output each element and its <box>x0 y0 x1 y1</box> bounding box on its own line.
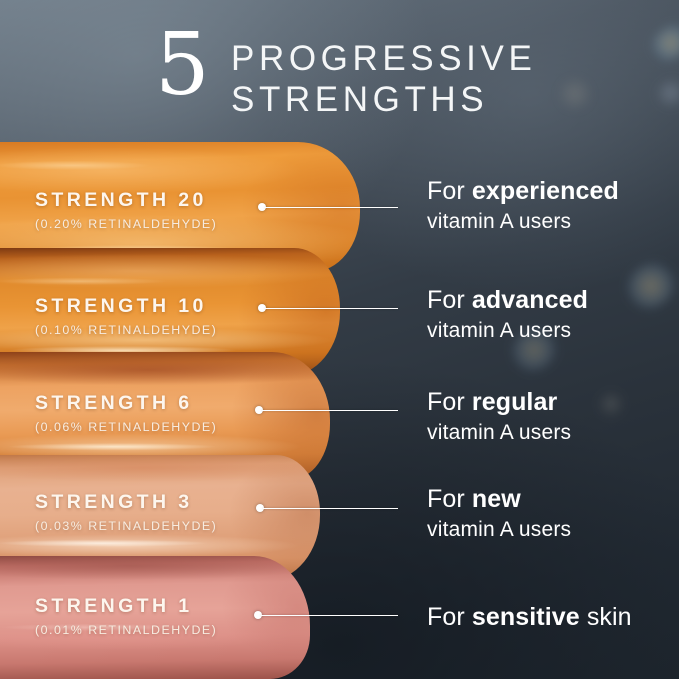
description-prefix: For <box>427 485 465 513</box>
strength-title: STRENGTH 1 <box>35 595 217 618</box>
description-prefix: For <box>427 177 465 205</box>
connector-line <box>265 308 398 310</box>
bokeh-flare-6 <box>592 386 630 423</box>
description-emphasis: advanced <box>472 286 588 314</box>
strength-title: STRENGTH 3 <box>35 491 217 514</box>
description-emphasis: new <box>472 485 521 513</box>
description-line-2: vitamin A users <box>427 419 571 446</box>
description-strength-1: For sensitive skin <box>427 602 632 632</box>
description-emphasis: sensitive <box>472 603 580 631</box>
description-strength-6: For regular vitamin A users <box>427 387 571 446</box>
description-suffix: skin <box>587 603 632 631</box>
description-emphasis: regular <box>472 388 557 416</box>
connector-line <box>262 410 398 412</box>
connector-strength-3 <box>256 503 398 513</box>
bokeh-flare-2 <box>649 72 679 115</box>
description-line-1: For sensitive skin <box>427 602 632 632</box>
description-line-1: For experienced <box>427 176 619 206</box>
strength-subtitle: (0.10% RETINALDEHYDE) <box>35 323 217 337</box>
headline-line-1: PROGRESSIVE <box>231 38 536 79</box>
description-line-1: For new <box>427 484 571 514</box>
headline-line-2: STRENGTHS <box>231 79 536 120</box>
description-line-2: vitamin A users <box>427 516 571 543</box>
connector-strength-6 <box>255 405 398 415</box>
description-strength-20: For experienced vitamin A users <box>427 176 619 235</box>
strength-subtitle: (0.06% RETINALDEHYDE) <box>35 420 217 434</box>
label-strength-1: STRENGTH 1 (0.01% RETINALDEHYDE) <box>35 595 217 637</box>
description-prefix: For <box>427 388 465 416</box>
label-strength-3: STRENGTH 3 (0.03% RETINALDEHYDE) <box>35 491 217 533</box>
label-strength-6: STRENGTH 6 (0.06% RETINALDEHYDE) <box>35 392 217 434</box>
description-strength-10: For advanced vitamin A users <box>427 285 588 344</box>
strength-subtitle: (0.03% RETINALDEHYDE) <box>35 519 217 533</box>
description-line-1: For advanced <box>427 285 588 315</box>
strength-title: STRENGTH 6 <box>35 392 217 415</box>
connector-strength-1 <box>254 610 398 620</box>
description-line-1: For regular <box>427 387 571 417</box>
description-prefix: For <box>427 603 465 631</box>
description-prefix: For <box>427 286 465 314</box>
description-line-2: vitamin A users <box>427 208 619 235</box>
connector-strength-10 <box>258 303 398 313</box>
bokeh-flare-4 <box>618 254 679 318</box>
strength-title: STRENGTH 10 <box>35 295 217 318</box>
connector-line <box>265 207 398 209</box>
description-line-2: vitamin A users <box>427 317 588 344</box>
headline-numeral: 5 <box>155 22 210 108</box>
strength-subtitle: (0.01% RETINALDEHYDE) <box>35 623 217 637</box>
promo-graphic: 5 PROGRESSIVE STRENGTHS STRENGTH 20 (0.2… <box>0 0 679 679</box>
bokeh-flare-1 <box>644 17 679 69</box>
headline-text: PROGRESSIVE STRENGTHS <box>231 38 536 120</box>
connector-line <box>261 615 398 617</box>
connector-strength-20 <box>258 202 398 212</box>
bokeh-flare-3 <box>555 78 595 110</box>
connector-line <box>263 508 398 510</box>
label-strength-20: STRENGTH 20 (0.20% RETINALDEHYDE) <box>35 189 217 231</box>
strength-subtitle: (0.20% RETINALDEHYDE) <box>35 217 217 231</box>
label-strength-10: STRENGTH 10 (0.10% RETINALDEHYDE) <box>35 295 217 337</box>
strength-title: STRENGTH 20 <box>35 189 217 212</box>
description-emphasis: experienced <box>472 177 619 205</box>
description-strength-3: For new vitamin A users <box>427 484 571 543</box>
